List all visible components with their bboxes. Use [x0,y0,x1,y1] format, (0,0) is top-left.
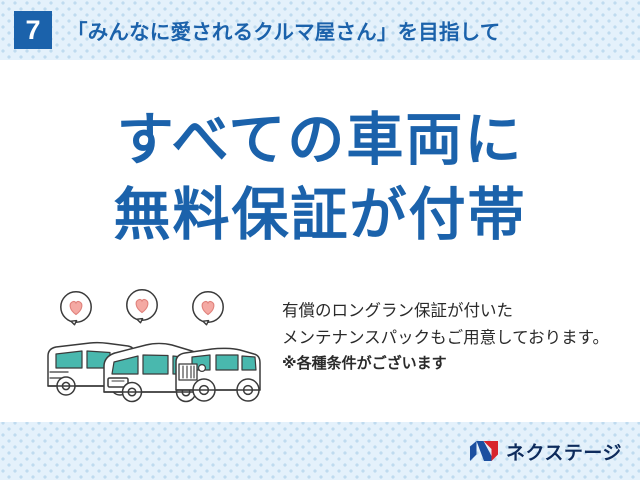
header: 7 「みんなに愛されるクルマ屋さん」を目指して [0,0,640,60]
page-title: すべての車両に 無料保証が付帯 [0,103,640,253]
brand-logo: ネクステージ [469,438,622,465]
description-note: ※各種条件がございます [282,352,640,376]
headline-line-2: 無料保証が付帯 [0,178,640,253]
content-card: すべての車両に 無料保証が付帯 [0,60,640,422]
section-number-badge: 7 [14,11,52,49]
slide-root: 7 「みんなに愛されるクルマ屋さん」を目指して すべての車両に 無料保証が付帯 [0,0,640,480]
description-line-1: 有償のロングラン保証が付いた [282,298,640,325]
detail-row: 有償のロングラン保証が付いた メンテナンスパックもご用意しております。 ※各種条… [0,288,640,408]
car-illustration [42,288,264,408]
header-title: 「みんなに愛されるクルマ屋さん」を目指して [67,15,500,45]
nextage-n-mark-icon [469,440,499,462]
vehicles-group-icon [42,324,264,408]
headline-line-1: すべての車両に [0,103,640,178]
heart-bubble-icon [120,288,164,328]
footer: ネクステージ [0,422,640,480]
description-line-2: メンテナンスパックもご用意しております。 [282,325,640,352]
brand-name: ネクステージ [506,438,622,465]
description-text: 有償のロングラン保証が付いた メンテナンスパックもご用意しております。 ※各種条… [282,288,640,376]
